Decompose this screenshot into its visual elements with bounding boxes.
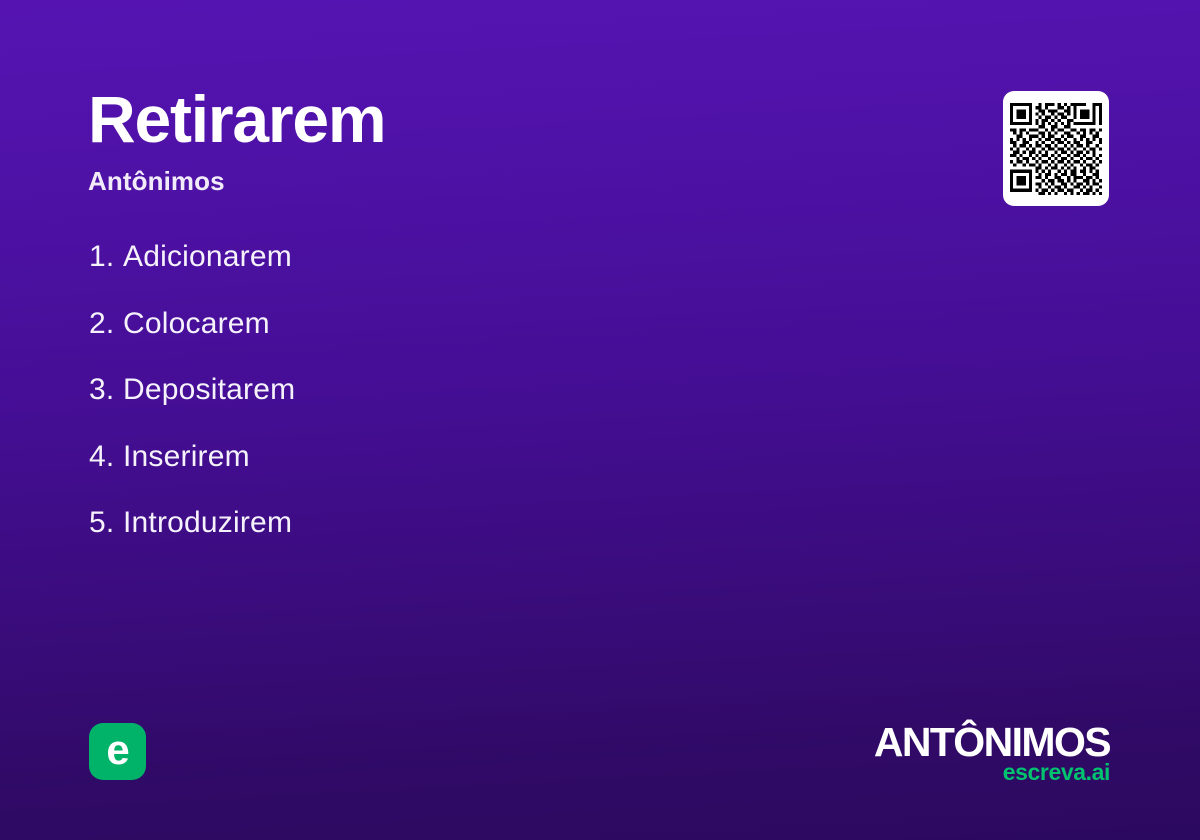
- escreva-logo-icon[interactable]: e: [89, 723, 146, 780]
- list-item: 3.Depositarem: [89, 371, 295, 438]
- list-item-word: Depositarem: [123, 373, 295, 406]
- list-item: 5.Introduzirem: [89, 504, 295, 571]
- list-item-word: Adicionarem: [123, 240, 292, 273]
- list-item-index: 4.: [89, 438, 123, 476]
- list-item-word: Colocarem: [123, 307, 270, 340]
- antonyms-card: Retirarem Antônimos 1.Adicionarem2.Coloc…: [0, 0, 1200, 840]
- qr-code-icon: [1010, 103, 1102, 195]
- title-block: Retirarem Antônimos: [88, 86, 385, 197]
- antonym-list: 1.Adicionarem2.Colocarem3.Depositarem4.I…: [89, 238, 295, 571]
- list-item-index: 1.: [89, 238, 123, 276]
- page-title: Retirarem: [88, 86, 385, 152]
- wordmark-main: ANTÔNIMOS: [874, 722, 1110, 762]
- list-item-word: Inserirem: [123, 440, 250, 473]
- list-item-index: 5.: [89, 504, 123, 542]
- wordmark: ANTÔNIMOS escreva.ai: [874, 722, 1110, 785]
- list-item: 4.Inserirem: [89, 438, 295, 505]
- qr-code[interactable]: [1003, 91, 1109, 206]
- list-item-word: Introduzirem: [123, 506, 292, 539]
- list-item-index: 2.: [89, 305, 123, 343]
- list-item-index: 3.: [89, 371, 123, 409]
- brand-mark-letter: e: [89, 723, 146, 780]
- list-item: 1.Adicionarem: [89, 238, 295, 305]
- page-subtitle: Antônimos: [88, 166, 385, 197]
- list-item: 2.Colocarem: [89, 305, 295, 372]
